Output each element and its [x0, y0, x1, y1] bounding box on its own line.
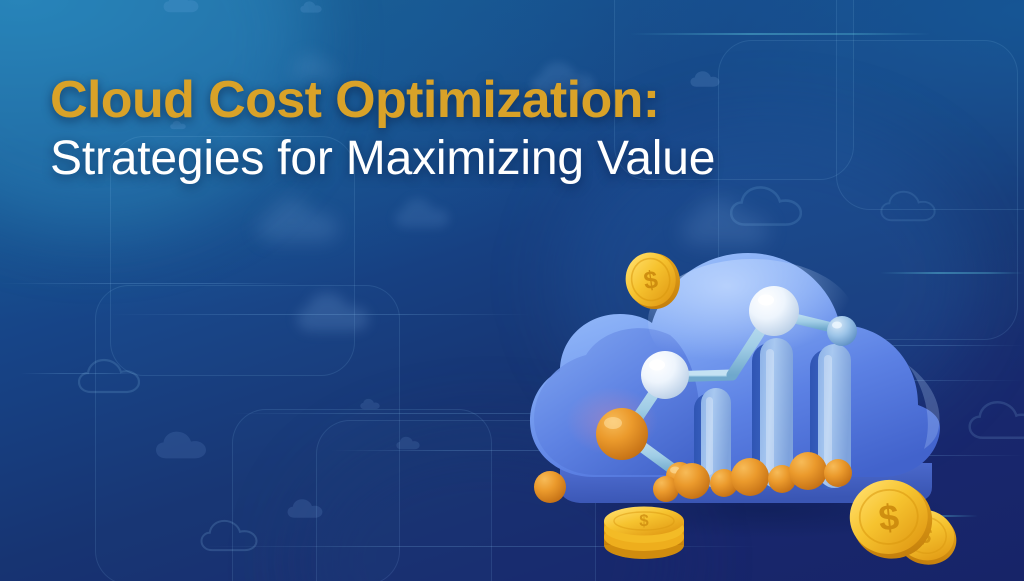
decor-line-1 [0, 283, 300, 284]
decor-cloud-fill-4 [396, 436, 420, 450]
base-sphere-4a [824, 459, 852, 487]
banner: Cloud Cost Optimization: Strategies for … [0, 0, 1024, 581]
node-white-mid [641, 351, 689, 399]
base-sphere-0 [534, 471, 566, 503]
decor-cloud-fill-14 [360, 398, 380, 410]
headline-block: Cloud Cost Optimization: Strategies for … [50, 72, 715, 190]
decor-cloud-fill-2 [287, 498, 323, 519]
decor-cloud-fill-3 [296, 290, 370, 334]
decor-cloud-outline-4 [730, 185, 802, 227]
cloud-cost-3d-illustration: $ $ $ [520, 225, 1020, 581]
decor-cloud-fill-1 [155, 430, 207, 460]
node-orange-large [596, 408, 648, 460]
base-sphere-3b [789, 452, 827, 490]
decor-cloud-fill-7 [256, 195, 340, 245]
decor-cloud-outline-1 [78, 358, 140, 394]
decor-rounded-rect-2 [232, 409, 492, 581]
decor-line-9 [20, 373, 140, 374]
decor-cloud-fill-12 [394, 196, 450, 230]
decor-line-teal-1 [630, 33, 930, 35]
page-title: Cloud Cost Optimization: [50, 72, 715, 128]
base-sphere-1b [674, 463, 710, 499]
page-subtitle: Strategies for Maximizing Value [50, 128, 715, 189]
decor-cloud-outline-5 [880, 190, 936, 222]
decor-cloud-fill-11 [300, 0, 322, 14]
base-sphere-2b [731, 458, 769, 496]
node-white-high [749, 286, 799, 336]
decor-rounded-rect-1 [95, 285, 400, 581]
node-blue-small [827, 316, 857, 346]
coin-stack-dollar-symbol: $ [639, 511, 649, 530]
coin-front-dollar-symbol: $ [877, 496, 901, 539]
decor-line-2 [110, 314, 530, 315]
decor-cloud-outline-2 [200, 519, 258, 552]
decor-cloud-fill-5 [163, 0, 199, 14]
coin-stack: $ [604, 507, 684, 560]
decor-rounded-rect-7 [836, 0, 1024, 210]
coin-pair: $ $ [846, 476, 962, 571]
